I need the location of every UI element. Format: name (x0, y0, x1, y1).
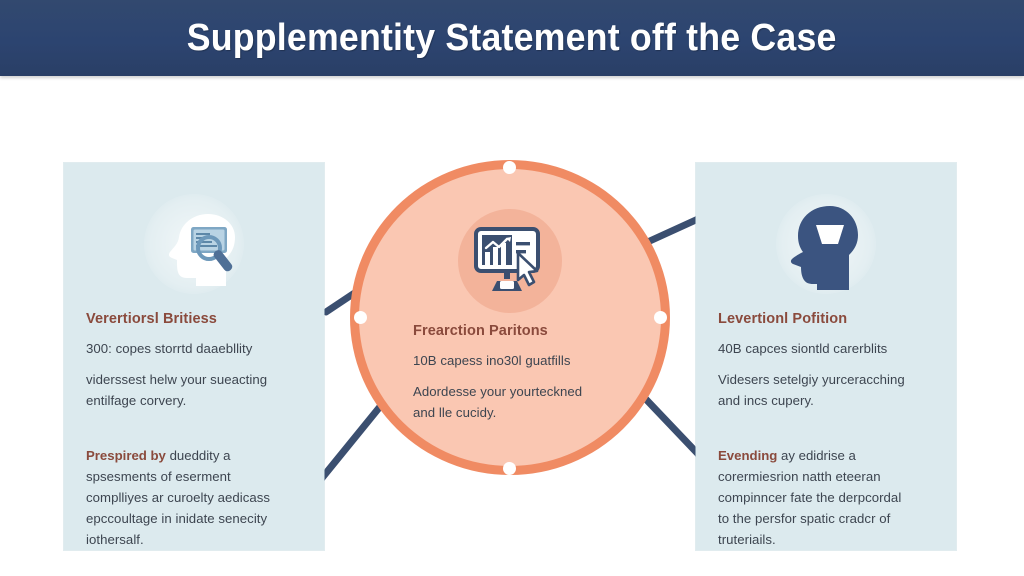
page-title: Supplementity Statement off the Case (187, 17, 837, 60)
right-block-2: Evending ay edidrise a corermiesrion nat… (718, 445, 938, 550)
monitor-chart-cursor-icon (468, 219, 552, 303)
left-block-2: Prespired by dueddity a spsesments of es… (86, 445, 306, 550)
left-block-1-line1: 300: copes storrtd daaebllity (86, 338, 306, 359)
right-block-1-line3: and incs cupery. (718, 390, 938, 411)
left-block-2-line4: epccoultage in inidate senecity (86, 508, 306, 529)
right-block-1-line1: 40B capces siontld carerblits (718, 338, 938, 359)
left-block-1: Verertiorsl Britiess 300: copes storrtd … (86, 309, 306, 411)
left-info-card[interactable]: Verertiorsl Britiess 300: copes storrtd … (64, 163, 324, 550)
head-silhouette-icon (780, 198, 872, 290)
right-block-2-line2: corermiesrion natth eteeran (718, 466, 938, 487)
right-block-1: Levertionl Pofition 40B capces siontld c… (718, 309, 938, 411)
icon-halo (144, 194, 244, 294)
left-block-2-line5: iothersalf. (86, 529, 306, 550)
left-card-body: Verertiorsl Britiess 300: copes storrtd … (86, 309, 306, 554)
right-block-1-heading: Levertionl Pofition (718, 309, 938, 329)
header-band: Supplementity Statement off the Case (0, 0, 1024, 76)
connector-right-bottom (640, 393, 699, 455)
center-icon-wrap (458, 209, 562, 313)
right-block-2-line4: to the persfor spatic cradcr of (718, 508, 938, 529)
right-info-card[interactable]: Levertionl Pofition 40B capces siontld c… (696, 163, 956, 550)
left-block-2-inline-heading: Prespired by (86, 448, 166, 463)
right-block-2-line5: truteriails. (718, 529, 938, 550)
left-block-1-line3: entilfage corvery. (86, 390, 306, 411)
infographic-page: Supplementity Statement off the Case (0, 0, 1024, 576)
circle-dot-right (654, 311, 667, 324)
center-circle[interactable]: Frearction Paritons 10B capess ino30l gu… (350, 160, 670, 475)
right-card-body: Levertionl Pofition 40B capces siontld c… (718, 309, 938, 554)
left-block-1-line2: viderssest helw your sueacting (86, 369, 306, 390)
center-line1: 10B capess ino30l guatfills (413, 350, 619, 371)
left-card-icon-wrap (64, 191, 324, 297)
center-body: Frearction Paritons 10B capess ino30l gu… (413, 321, 619, 423)
circle-dot-top (503, 161, 516, 174)
right-block-2-inline-heading: Evending (718, 448, 777, 463)
right-block-2-line1: Evending ay edidrise a (718, 445, 938, 466)
left-block-2-line1: Prespired by dueddity a (86, 445, 306, 466)
left-block-1-heading: Verertiorsl Britiess (86, 309, 306, 329)
left-block-2-inline-rest: dueddity a (166, 448, 231, 463)
circle-dot-bottom (503, 462, 516, 475)
connector-left-bottom (322, 398, 387, 478)
left-block-2-line3: complliyes ar curoelty aedicass (86, 487, 306, 508)
right-block-2-inline-rest: ay edidrise a (777, 448, 855, 463)
right-block-1-line2: Videsers setelgiy yurceracching (718, 369, 938, 390)
icon-halo (776, 194, 876, 294)
head-document-search-icon (146, 196, 242, 292)
center-line2: Adordesse your yourteckned (413, 381, 619, 402)
center-heading: Frearction Paritons (413, 321, 619, 341)
circle-dot-left (354, 311, 367, 324)
center-line3: and lle cucidy. (413, 402, 619, 423)
right-card-icon-wrap (696, 191, 956, 297)
right-block-2-line3: compinncer fate the derpcordal (718, 487, 938, 508)
left-block-2-line2: spsesments of eserment (86, 466, 306, 487)
